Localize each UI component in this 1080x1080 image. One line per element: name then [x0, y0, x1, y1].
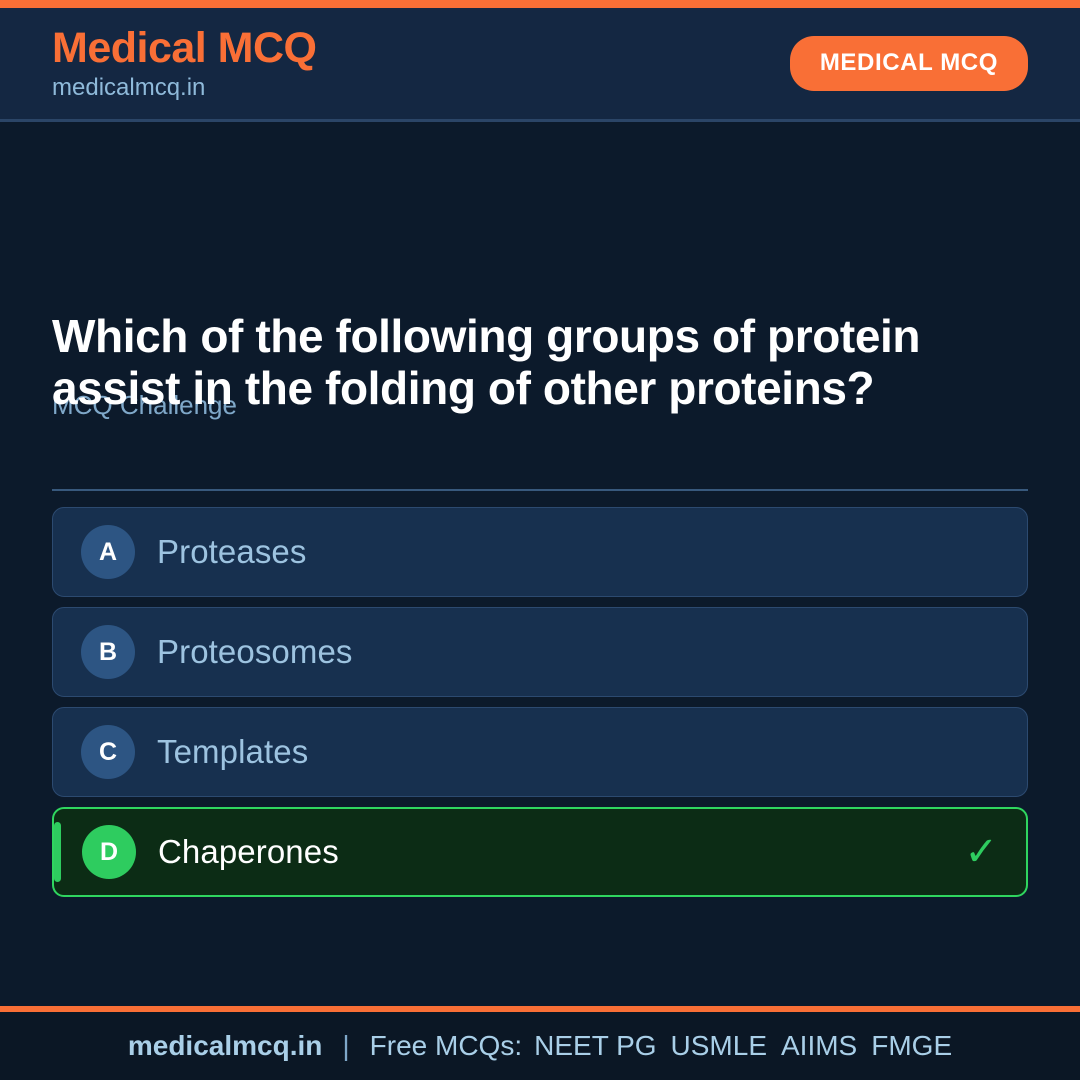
header-badge: MEDICAL MCQ	[790, 36, 1028, 91]
option-label: Templates	[157, 733, 308, 771]
footer-exam-neet-pg: NEET PG	[534, 1030, 656, 1062]
question-text: Which of the following groups of protein…	[52, 310, 1010, 415]
footer-site: medicalmcq.in	[128, 1030, 323, 1062]
option-label: Proteases	[157, 533, 306, 571]
footer-label: Free MCQs:	[370, 1030, 522, 1062]
main-content: MCQ Challenge Which of the following gro…	[0, 122, 1080, 1006]
option-label: Proteosomes	[157, 633, 353, 671]
footer-separator: |	[342, 1030, 349, 1062]
page-footer: medicalmcq.in | Free MCQs: NEET PG USMLE…	[0, 1012, 1080, 1080]
option-label: Chaperones	[158, 833, 339, 871]
option-d[interactable]: D Chaperones ✓	[52, 807, 1028, 897]
mcq-card: Medical MCQ medicalmcq.in MEDICAL MCQ MC…	[0, 0, 1080, 1080]
option-letter: A	[81, 525, 135, 579]
brand: Medical MCQ medicalmcq.in	[52, 27, 317, 100]
option-letter: D	[82, 825, 136, 879]
footer-exam-aiims: AIIMS	[781, 1030, 857, 1062]
checkmark-icon: ✓	[964, 832, 998, 872]
option-b[interactable]: B Proteosomes	[52, 607, 1028, 697]
option-a[interactable]: A Proteases	[52, 507, 1028, 597]
option-c[interactable]: C Templates	[52, 707, 1028, 797]
brand-subtitle: medicalmcq.in	[52, 76, 317, 100]
brand-title: Medical MCQ	[52, 27, 317, 70]
option-letter: C	[81, 725, 135, 779]
options-list: A Proteases B Proteosomes C Templates D …	[52, 507, 1028, 897]
page-header: Medical MCQ medicalmcq.in MEDICAL MCQ	[0, 8, 1080, 122]
footer-exam-fmge: FMGE	[871, 1030, 952, 1062]
option-letter: B	[81, 625, 135, 679]
top-accent-bar	[0, 0, 1080, 8]
footer-exam-usmle: USMLE	[671, 1030, 767, 1062]
question-divider	[52, 489, 1028, 491]
